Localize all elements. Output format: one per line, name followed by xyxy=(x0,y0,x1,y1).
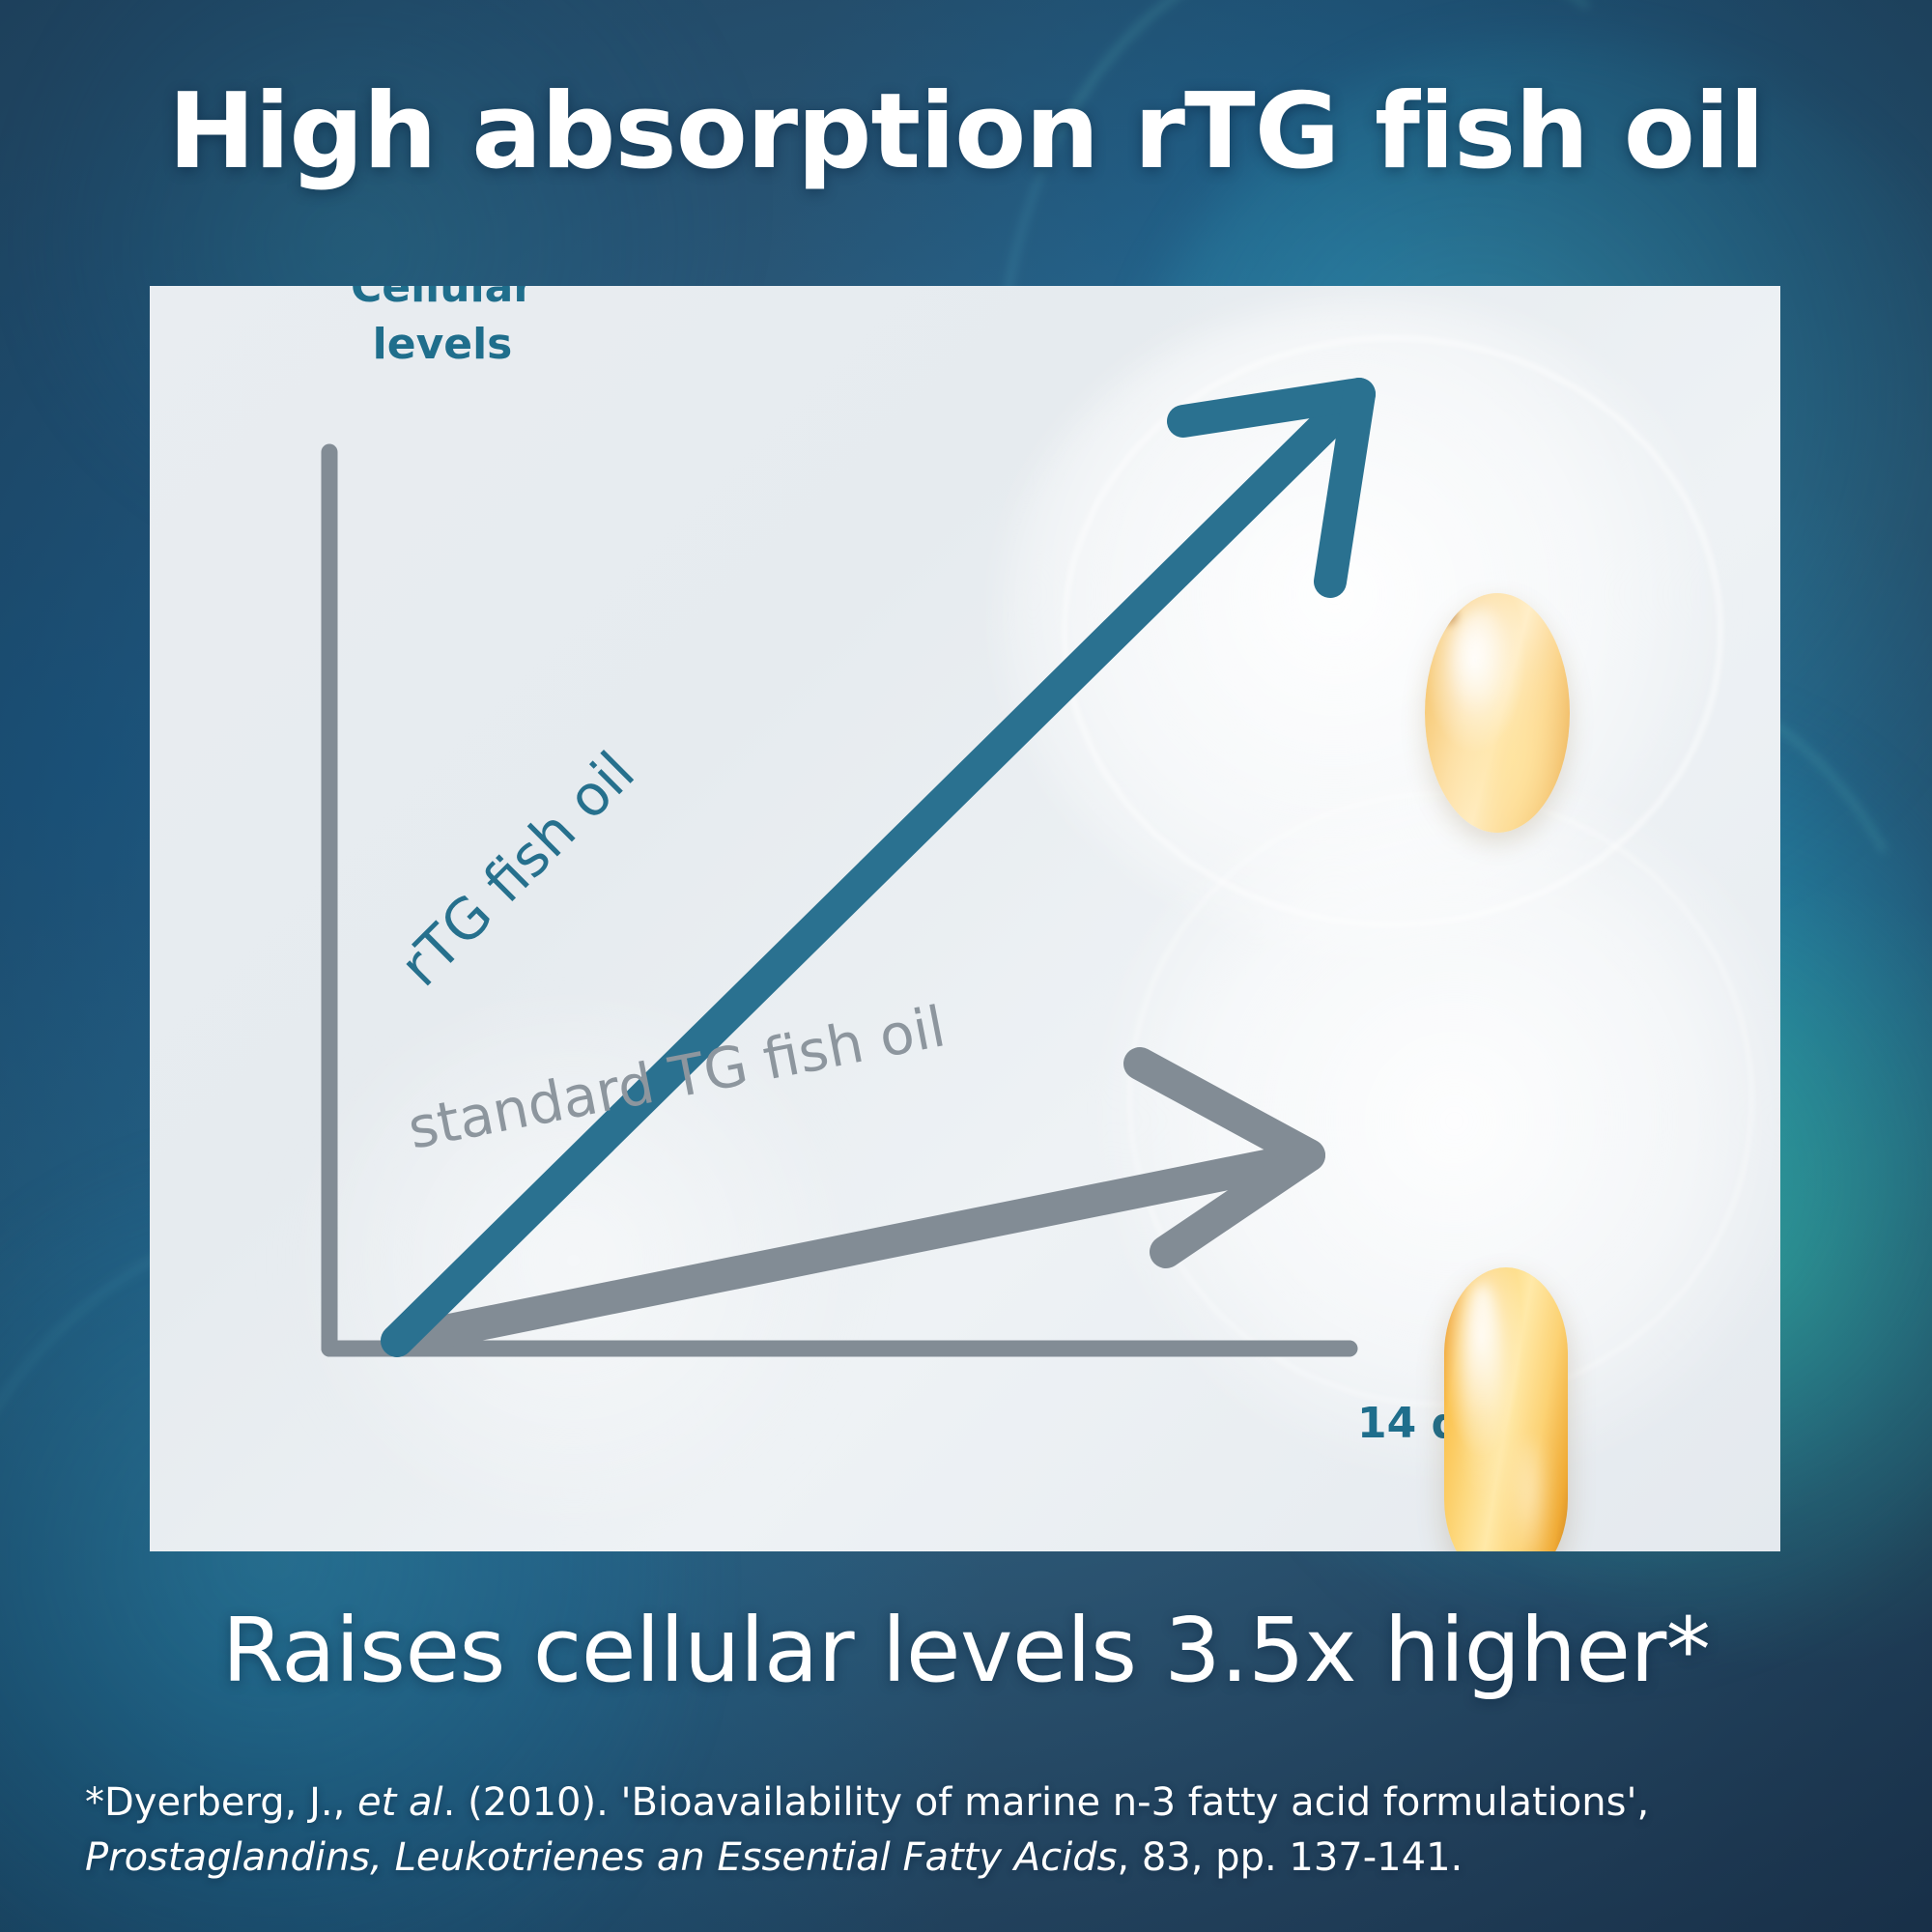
infographic-root: High absorption rTG fish oil xyxy=(0,0,1932,1932)
page-title: High absorption rTG fish oil xyxy=(0,77,1932,186)
citation-line2-b: , 83, pp. 137-141. xyxy=(1117,1835,1463,1880)
elongated-softgel-capsule xyxy=(1444,1267,1568,1551)
citation-line1-italic: et al xyxy=(357,1780,443,1825)
oval-softgel-capsule xyxy=(1425,593,1570,833)
citation: *Dyerberg, J., et al. (2010). 'Bioavaila… xyxy=(85,1776,1847,1886)
y-axis-label: Cellular levels xyxy=(331,286,554,374)
citation-line2-italic: Prostaglandins, Leukotrienes an Essentia… xyxy=(85,1835,1117,1880)
citation-line1-b: . (2010). 'Bioavailability of marine n-3… xyxy=(443,1780,1650,1825)
chart-panel: Cellular levels 14 days rTG fish oil sta… xyxy=(150,286,1780,1551)
citation-line1-a: *Dyerberg, J., xyxy=(85,1780,357,1825)
subheadline: Raises cellular levels 3.5x higher* xyxy=(0,1599,1932,1702)
